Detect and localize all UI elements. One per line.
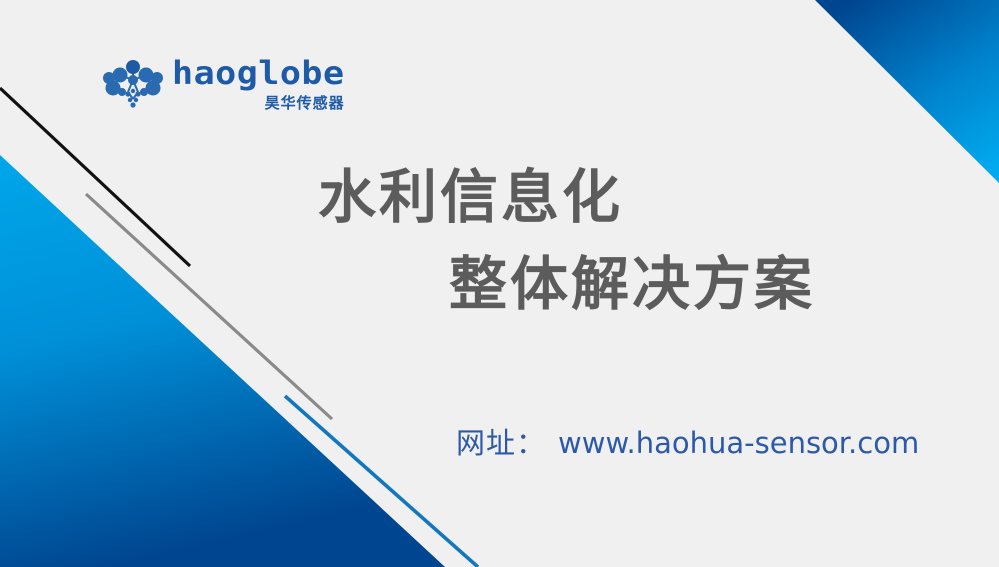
title-line-1: 水利信息化 [318, 166, 878, 229]
top-right-blue-triangle [815, 0, 999, 183]
page-title: 水利信息化 整体解决方案 [318, 166, 878, 315]
company-logo: haoglobe 昊华传感器 [100, 57, 345, 111]
gray-diagonal-line [86, 194, 332, 419]
presentation-slide: haoglobe 昊华传感器 水利信息化 整体解决方案 网址： www.haoh… [0, 0, 999, 567]
logo-wordmark: haoglobe [172, 58, 345, 90]
website-url[interactable]: www.haohua-sensor.com [558, 426, 919, 460]
website-label: 网址： [456, 420, 546, 462]
black-diagonal-line [0, 88, 190, 266]
blue-diagonal-line [285, 396, 478, 567]
logo-chinese-name: 昊华传感器 [265, 96, 345, 111]
molecule-network-icon [100, 58, 166, 110]
title-line-2: 整体解决方案 [318, 253, 878, 316]
website-line: 网址： www.haohua-sensor.com [456, 420, 919, 462]
